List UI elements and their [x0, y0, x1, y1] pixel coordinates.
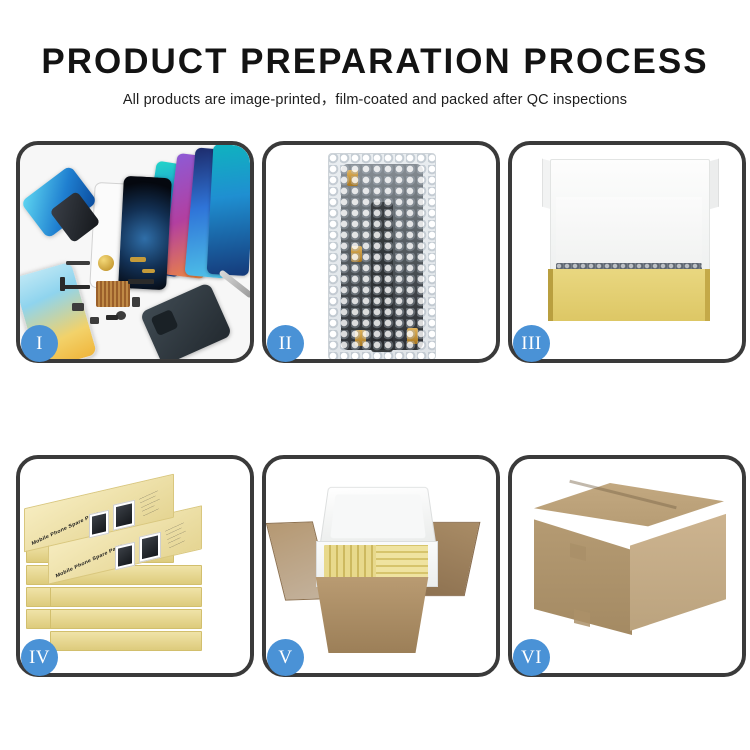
stacked-box	[50, 587, 202, 607]
yellow-box-base-icon	[548, 269, 710, 321]
box-spec-text: ——————————————————————————	[165, 521, 189, 550]
sealed-carton-illustration	[512, 459, 742, 673]
component-chip-icon	[132, 297, 140, 307]
bubble-wrap-illustration	[266, 145, 496, 359]
phone-parts-illustration	[20, 145, 250, 359]
box-window	[115, 542, 135, 571]
phone-display-icon	[118, 176, 172, 290]
window-product-preview	[142, 535, 158, 559]
box-window	[139, 532, 161, 563]
stacked-box	[50, 609, 202, 629]
window-product-preview	[118, 545, 132, 566]
foam-sheet-icon	[556, 197, 702, 273]
box-stack-illustration: Mobile Phone Spare Parts ———————————————…	[20, 459, 250, 673]
window-product-preview	[116, 503, 132, 527]
stacked-box	[50, 631, 202, 651]
step-badge-2: II	[267, 325, 304, 362]
flex-cable-icon	[130, 257, 146, 262]
step-badge-1: I	[21, 325, 58, 362]
step-badge-5: V	[267, 639, 304, 676]
open-box-illustration	[512, 145, 742, 359]
component-chip-icon	[66, 261, 90, 265]
component-chip-icon	[90, 317, 99, 324]
phone-screen-icon	[207, 145, 250, 276]
component-chip-icon	[72, 303, 84, 311]
flex-cable-icon	[106, 315, 118, 320]
flex-cable-icon	[64, 285, 90, 289]
box-edge-icon	[548, 269, 553, 321]
phone-housing-icon	[139, 282, 232, 359]
foam-lid-icon	[319, 487, 437, 548]
carton-foam-illustration	[266, 459, 496, 673]
process-step-grid: Mobile Phone Spare Parts ———————————————…	[0, 0, 750, 750]
box-window	[113, 500, 135, 531]
bubble-texture-overlay	[329, 154, 435, 359]
speaker-component-icon	[98, 255, 114, 271]
flex-cable-icon	[142, 269, 155, 273]
step-badge-6: VI	[513, 639, 550, 676]
window-product-preview	[92, 513, 106, 534]
step-badge-4: IV	[21, 639, 58, 676]
box-window	[89, 510, 109, 539]
tape-strip-icon	[574, 609, 590, 627]
box-spec-text: ——————————————————————————	[139, 489, 163, 518]
flex-cable-icon	[60, 277, 65, 291]
carton-body-icon	[308, 577, 436, 653]
bubble-bag-icon	[328, 153, 436, 359]
yellow-boxes-icon	[376, 545, 428, 579]
box-edge-icon	[705, 269, 710, 321]
carton-right-face	[630, 509, 726, 631]
flex-cable-icon	[128, 279, 154, 284]
circuit-board-icon	[96, 281, 130, 307]
step-badge-3: III	[513, 325, 550, 362]
product-preparation-page: PRODUCT PREPARATION PROCESS All products…	[0, 0, 750, 750]
